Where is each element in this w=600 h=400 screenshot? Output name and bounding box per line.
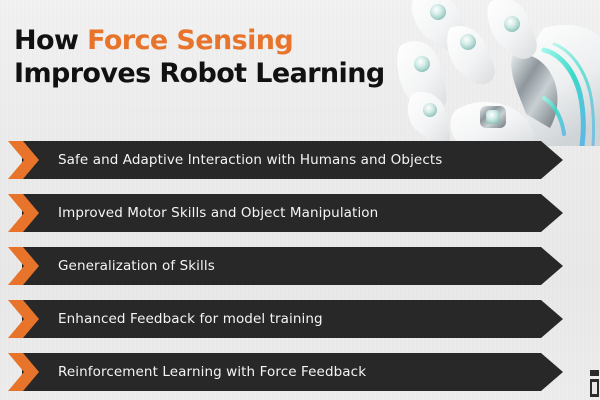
list-item-label: Improved Motor Skills and Object Manipul… [58, 194, 378, 232]
infographic-canvas: How Force Sensing Improves Robot Learnin… [0, 0, 600, 400]
chevron-right-icon [8, 353, 41, 391]
list-item-label: Reinforcement Learning with Force Feedba… [58, 353, 366, 391]
title-line-1: How Force Sensing [14, 24, 434, 57]
list-item-label: Enhanced Feedback for model training [58, 300, 323, 338]
title-line-1-accent: Force Sensing [87, 25, 293, 56]
title-line-2: Improves Robot Learning [14, 57, 434, 90]
page-title: How Force Sensing Improves Robot Learnin… [14, 24, 434, 90]
list-item[interactable]: Enhanced Feedback for model training [0, 300, 600, 338]
list-item[interactable]: Improved Motor Skills and Object Manipul… [0, 194, 600, 232]
benefit-list: Safe and Adaptive Interaction with Human… [0, 141, 600, 391]
chevron-right-icon [8, 141, 41, 179]
chevron-right-icon [8, 247, 41, 285]
title-line-1-prefix: How [14, 25, 87, 56]
list-item[interactable]: Generalization of Skills [0, 247, 600, 285]
list-item[interactable]: Safe and Adaptive Interaction with Human… [0, 141, 600, 179]
watermark-dot [590, 370, 599, 376]
watermark-stem [590, 379, 599, 397]
list-item[interactable]: Reinforcement Learning with Force Feedba… [0, 353, 600, 391]
chevron-right-icon [8, 194, 41, 232]
list-item-label: Safe and Adaptive Interaction with Human… [58, 141, 442, 179]
chevron-right-icon [8, 300, 41, 338]
list-item-label: Generalization of Skills [58, 247, 215, 285]
watermark-glyph [589, 368, 600, 398]
